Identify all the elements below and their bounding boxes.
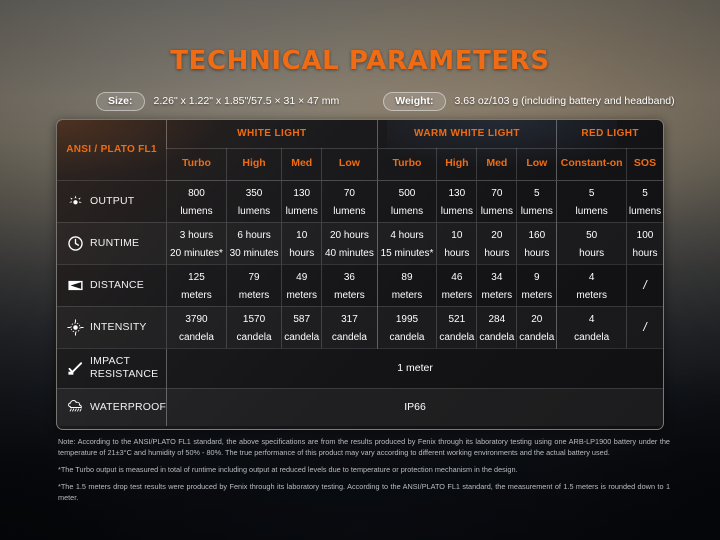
- row-label-text: INTENSITY: [90, 321, 147, 333]
- table-cell: 10 hours: [437, 222, 477, 264]
- output-icon: [67, 193, 84, 210]
- cell-value: 130 lumens: [286, 188, 318, 217]
- cell-value: 1995 candela: [389, 314, 424, 343]
- table-cell: 6 hours 30 minutes: [226, 222, 281, 264]
- weight-group: Weight: 3.63 oz/103 g (including battery…: [383, 92, 674, 111]
- footnote-drop: *The 1.5 meters drop test results were p…: [58, 482, 670, 504]
- row-label-text: RUNTIME: [90, 237, 139, 249]
- cell-value: 10 hours: [289, 230, 314, 259]
- table-cell: 49 meters: [282, 264, 322, 306]
- table-cell: 317 candela: [322, 306, 377, 348]
- footnotes: Note: According to the ANSI/PLATO FL1 st…: [58, 437, 670, 504]
- table-cell: 1995 candela: [377, 306, 437, 348]
- table-cell: 3790 candela: [167, 306, 227, 348]
- cell-value: 10 hours: [444, 230, 469, 259]
- mode-header-7: Low: [517, 148, 557, 180]
- cell-value: 46 meters: [442, 272, 473, 301]
- cell-value: 4 meters: [576, 272, 607, 301]
- table-cell: 36 meters: [322, 264, 377, 306]
- cell-value: 79 meters: [239, 272, 270, 301]
- table-cell: 70 lumens: [322, 180, 377, 222]
- row-label-text: OUTPUT: [90, 195, 134, 207]
- page-root: TECHNICAL PARAMETERS Size: 2.26" x 1.22"…: [0, 0, 720, 540]
- table-cell: 20 candela: [517, 306, 557, 348]
- cell-value: 70 lumens: [333, 188, 365, 217]
- cell-value: 9 meters: [522, 272, 553, 301]
- cell-value: 20 hours: [484, 230, 509, 259]
- intensity-icon: [67, 319, 84, 336]
- cell-value: 20 candela: [519, 314, 554, 343]
- cell-value: 4 candela: [574, 314, 609, 343]
- row-label-output: OUTPUT: [57, 180, 167, 222]
- table-cell: 4 meters: [557, 264, 627, 306]
- cell-value: 6 hours 30 minutes: [230, 230, 279, 259]
- spec-summary-bar: Size: 2.26" x 1.22" x 1.85"/57.5 × 31 × …: [96, 90, 636, 112]
- mode-header-6: Med: [477, 148, 517, 180]
- cell-value: 3 hours 20 minutes*: [170, 230, 223, 259]
- cell-value: 500 lumens: [391, 188, 423, 217]
- cell-value: 89 meters: [392, 272, 423, 301]
- cell-value: 160 hours: [524, 230, 549, 259]
- table-cell: 46 meters: [437, 264, 477, 306]
- table-cell: 20 hours 40 minutes: [322, 222, 377, 264]
- cell-value: 125 meters: [181, 272, 212, 301]
- cell-value: 50 hours: [579, 230, 604, 259]
- table-cell: 3 hours 20 minutes*: [167, 222, 227, 264]
- group-header-white-light: WHITE LIGHT: [167, 120, 378, 148]
- mode-header-1: High: [226, 148, 281, 180]
- table-cell: 130 lumens: [437, 180, 477, 222]
- impact-icon: [67, 360, 84, 377]
- table-cell: 34 meters: [477, 264, 517, 306]
- clock-icon: [67, 235, 84, 252]
- cell-value: 1570 candela: [237, 314, 272, 343]
- cell-value: 284 candela: [479, 314, 514, 343]
- cell-value: 100 hours: [633, 230, 658, 259]
- table-cell: 89 meters: [377, 264, 437, 306]
- row-label-intensity: INTENSITY: [57, 306, 167, 348]
- beam-icon: [67, 277, 84, 294]
- table-cell: 284 candela: [477, 306, 517, 348]
- cell-value: 70 lumens: [481, 188, 513, 217]
- size-value: 2.26" x 1.22" x 1.85"/57.5 × 31 × 47 mm: [154, 95, 340, 107]
- row-label-runtime: RUNTIME: [57, 222, 167, 264]
- table-row-waterproof: WATERPROOFIP66: [57, 388, 663, 426]
- row-label-text: WATERPROOF: [90, 401, 166, 413]
- table-cell: 70 lumens: [477, 180, 517, 222]
- table-cell: 4 hours 15 minutes*: [377, 222, 437, 264]
- table-cell: 125 meters: [167, 264, 227, 306]
- cell-value: 34 meters: [482, 272, 513, 301]
- cell-value: 521 candela: [439, 314, 474, 343]
- table-cell: 350 lumens: [226, 180, 281, 222]
- group-header-warm-white-light: WARM WHITE LIGHT: [377, 120, 557, 148]
- table-cell: 9 meters: [517, 264, 557, 306]
- table-row: DISTANCE125 meters79 meters49 meters36 m…: [57, 264, 663, 306]
- cell-value: 800 lumens: [180, 188, 212, 217]
- mode-header-3: Low: [322, 148, 377, 180]
- cell-value: 36 meters: [334, 272, 365, 301]
- mode-header-0: Turbo: [167, 148, 227, 180]
- cell-value: 49 meters: [286, 272, 317, 301]
- cell-value: /: [643, 320, 646, 334]
- table-cell: 20 hours: [477, 222, 517, 264]
- cell-value: IP66: [404, 401, 426, 413]
- cell-value: 587 candela: [284, 314, 319, 343]
- page-title: TECHNICAL PARAMETERS: [0, 46, 720, 76]
- row-label-text: DISTANCE: [90, 279, 144, 291]
- group-header-red-light: RED LIGHT: [557, 120, 663, 148]
- table-cell: 100 hours: [627, 222, 663, 264]
- waterproof-icon: [67, 399, 84, 416]
- impact-value-cell: 1 meter: [167, 348, 663, 388]
- table-cell: 79 meters: [226, 264, 281, 306]
- table-cell: /: [627, 264, 663, 306]
- size-badge: Size:: [96, 92, 145, 111]
- specifications-panel: ANSI / PLATO FL1WHITE LIGHTWARM WHITE LI…: [56, 119, 664, 430]
- row-label-text: IMPACT RESISTANCE: [90, 355, 158, 382]
- table-row: OUTPUT800 lumens350 lumens130 lumens70 l…: [57, 180, 663, 222]
- table-cell: 521 candela: [437, 306, 477, 348]
- cell-value: 350 lumens: [238, 188, 270, 217]
- table-corner-label: ANSI / PLATO FL1: [57, 120, 167, 180]
- table-cell: 800 lumens: [167, 180, 227, 222]
- table-row: RUNTIME3 hours 20 minutes*6 hours 30 min…: [57, 222, 663, 264]
- row-label-distance: DISTANCE: [57, 264, 167, 306]
- cell-value: 1 meter: [397, 362, 433, 374]
- row-label-waterproof: WATERPROOF: [57, 388, 167, 426]
- mode-header-5: High: [437, 148, 477, 180]
- cell-value: 5 lumens: [629, 188, 661, 217]
- cell-value: 5 lumens: [576, 188, 608, 217]
- table-cell: 500 lumens: [377, 180, 437, 222]
- mode-header-4: Turbo: [377, 148, 437, 180]
- weight-badge: Weight:: [383, 92, 445, 111]
- table-cell: /: [627, 306, 663, 348]
- waterproof-value-cell: IP66: [167, 388, 663, 426]
- cell-value: 3790 candela: [179, 314, 214, 343]
- mode-header-8: Constant-on: [557, 148, 627, 180]
- cell-value: 20 hours 40 minutes: [325, 230, 374, 259]
- table-cell: 5 lumens: [627, 180, 663, 222]
- table-cell: 1570 candela: [226, 306, 281, 348]
- cell-value: 130 lumens: [441, 188, 473, 217]
- table-row-impact: IMPACT RESISTANCE1 meter: [57, 348, 663, 388]
- table-cell: 50 hours: [557, 222, 627, 264]
- table-header-groups: ANSI / PLATO FL1WHITE LIGHTWARM WHITE LI…: [57, 120, 663, 148]
- table-cell: 10 hours: [282, 222, 322, 264]
- table-row: INTENSITY3790 candela1570 candela587 can…: [57, 306, 663, 348]
- table-cell: 587 candela: [282, 306, 322, 348]
- cell-value: 5 lumens: [521, 188, 553, 217]
- mode-header-9: SOS: [627, 148, 663, 180]
- cell-value: /: [643, 278, 646, 292]
- table-cell: 5 lumens: [557, 180, 627, 222]
- table-cell: 4 candela: [557, 306, 627, 348]
- row-label-impact-resistance: IMPACT RESISTANCE: [57, 348, 167, 388]
- mode-header-2: Med: [282, 148, 322, 180]
- footnote-main: Note: According to the ANSI/PLATO FL1 st…: [58, 437, 670, 459]
- cell-value: 4 hours 15 minutes*: [381, 230, 434, 259]
- table-cell: 5 lumens: [517, 180, 557, 222]
- weight-value: 3.63 oz/103 g (including battery and hea…: [455, 95, 675, 107]
- cell-value: 317 candela: [332, 314, 367, 343]
- specifications-table: ANSI / PLATO FL1WHITE LIGHTWARM WHITE LI…: [57, 120, 663, 426]
- table-cell: 130 lumens: [282, 180, 322, 222]
- footnote-turbo: *The Turbo output is measured in total o…: [58, 465, 670, 476]
- table-cell: 160 hours: [517, 222, 557, 264]
